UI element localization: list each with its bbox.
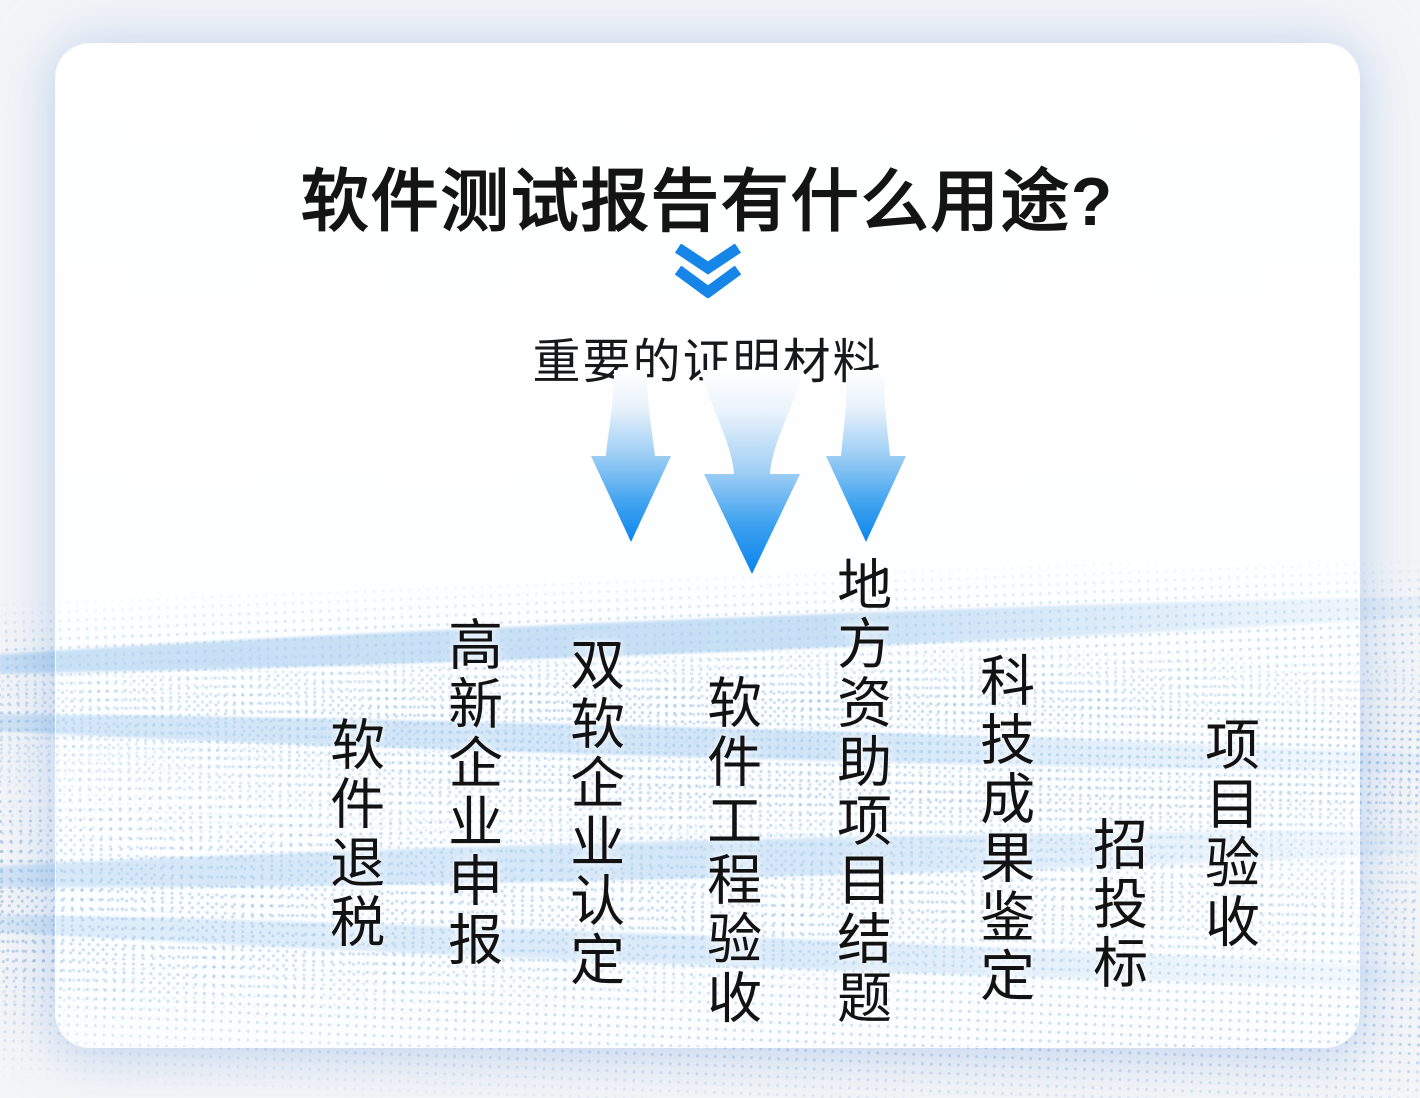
use-case-label: 软件退税 [324, 716, 381, 952]
use-case-label: 双软企业认定 [564, 636, 621, 990]
use-case-label: 软件工程验收 [701, 674, 758, 1028]
infographic-canvas: 软件测试报告有什么用途? 重要的证明材料 [0, 0, 1420, 1098]
use-case-label: 高新企业申报 [442, 616, 499, 970]
chevron-double-down-icon [56, 244, 1359, 298]
arrow-group [56, 370, 1359, 580]
use-case-label: 招投标 [1087, 816, 1144, 993]
arrow-down-icon-left [581, 370, 681, 542]
card-wave-ribbon-1 [56, 583, 1359, 687]
arrow-down-icon-middle [688, 370, 816, 574]
use-case-label: 地方资助项目结题 [831, 556, 888, 1028]
use-case-label: 科技成果鉴定 [974, 652, 1031, 1006]
page-title: 软件测试报告有什么用途? [56, 146, 1359, 245]
arrow-down-icon-right [816, 370, 916, 542]
use-case-label: 项目验收 [1199, 716, 1256, 952]
page-subtitle: 重要的证明材料 [56, 322, 1359, 392]
content-card: 软件测试报告有什么用途? 重要的证明材料 [56, 44, 1359, 1047]
